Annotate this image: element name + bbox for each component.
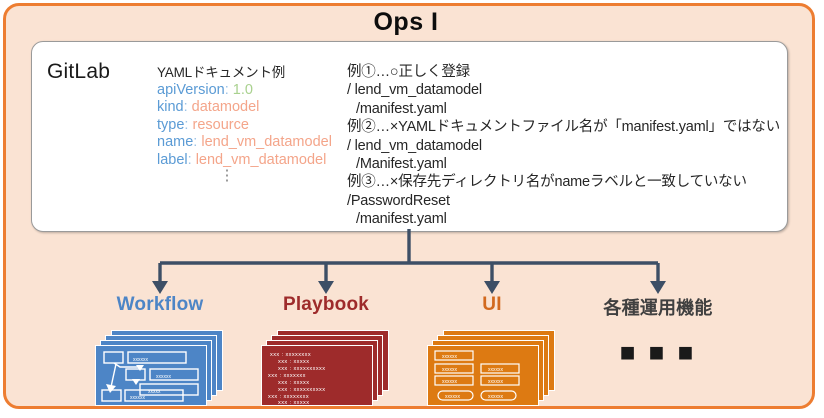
column-label-playbook: Playbook [241,294,411,320]
example-line-4: 例②…×YAMLドキュメントファイル名が「manifest.yaml」ではない [347,118,780,136]
yaml-colon: : [184,99,192,115]
example-line-6: /Manifest.yaml [347,155,780,173]
gitlab-card: GitLab YAMLドキュメント例 apiVersion: 1.0 kind:… [31,41,788,232]
yaml-line-apiversion: apiVersion: 1.0 [157,82,352,100]
column-ui: UI xxxxxx [407,294,577,402]
yaml-document-block: YAMLドキュメント例 apiVersion: 1.0 kind: datamo… [157,64,352,183]
page-title: Ops I [0,8,812,37]
yaml-key-kind: kind [157,99,184,115]
svg-text:xxx : xxxxx: xxx : xxxxx [278,400,309,406]
svg-text:xxxxx: xxxxx [148,389,161,395]
column-playbook: Playbook xxx : xxxxxxxx xxx : xxxxx xxx … [241,294,411,402]
example-line-1: 例①…○正しく登録 [347,63,780,81]
svg-text:xxx : xxxxx: xxx : xxxxx [278,359,309,365]
yaml-value-type: resource [192,117,248,133]
svg-text:xxxxxx: xxxxxx [442,354,458,360]
svg-text:xxx : xxxxxxxxxx: xxx : xxxxxxxxxx [278,366,325,372]
workflow-diagram-stack-icon: xxxxxx xxxxxx xxxxx xxxxxx [95,330,225,402]
svg-text:xxx : xxxxxxx: xxx : xxxxxxx [268,373,306,379]
playbook-text-stack-icon: xxx : xxxxxxxx xxx : xxxxx xxx : xxxxxxx… [261,330,391,402]
yaml-value-kind: datamodel [192,99,260,115]
example-line-2: / lend_vm_datamodel [347,81,780,99]
column-label-ui: UI [407,294,577,320]
yaml-key-apiversion: apiVersion [157,82,225,98]
example-line-3: /manifest.yaml [347,100,780,118]
svg-text:xxx : xxxxxxxxxx: xxx : xxxxxxxxxx [278,387,325,393]
example-line-7: 例③…×保存先ディレクトリ名がnameラベルと一致していない [347,173,780,191]
svg-text:xxxxxx: xxxxxx [488,394,504,400]
yaml-key-label: label [157,152,188,168]
column-workflow: Workflow [75,294,245,402]
yaml-key-type: type [157,117,184,133]
svg-text:xxxxxx: xxxxxx [133,357,149,363]
diagram-canvas: Ops I GitLab YAMLドキュメント例 apiVersion: 1.0… [0,0,824,418]
column-label-ops-functions: 各種運用機能 [573,294,743,320]
yaml-block-title: YAMLドキュメント例 [157,64,352,82]
svg-text:xxxxxx: xxxxxx [445,394,461,400]
svg-text:xxxxxx: xxxxxx [488,379,504,385]
svg-text:xxx : xxxxx: xxx : xxxxx [278,380,309,386]
yaml-colon: : [188,152,196,168]
svg-text:xxxxxx: xxxxxx [442,367,458,373]
example-line-5: / lend_vm_datamodel [347,137,780,155]
ui-form-stack-icon: xxxxxx xxxxxx xxxxxx xxxxxx xxxxxx xxxxx… [427,330,557,402]
yaml-line-type: type: resource [157,117,352,135]
svg-text:xxxxxx: xxxxxx [130,395,146,401]
ellipsis-icon: ■ ■ ■ [573,342,743,362]
yaml-value-apiversion: 1.0 [233,82,253,98]
yaml-continuation-ellipsis: ⋮ [157,169,297,183]
yaml-line-name: name: lend_vm_datamodel [157,134,352,152]
yaml-colon: : [225,82,233,98]
svg-text:xxxxxx: xxxxxx [442,379,458,385]
svg-text:xxx : xxxxxxxx: xxx : xxxxxxxx [270,352,311,358]
gitlab-label: GitLab [47,60,110,84]
svg-text:xxxxxx: xxxxxx [488,367,504,373]
svg-text:xxxxxx: xxxxxx [156,374,172,380]
example-line-9: /manifest.yaml [347,210,780,228]
examples-block: 例①…○正しく登録 / lend_vm_datamodel /manifest.… [347,63,780,229]
column-label-workflow: Workflow [75,294,245,320]
yaml-value-name: lend_vm_datamodel [201,134,332,150]
example-line-8: /PasswordReset [347,192,780,210]
yaml-line-label: label: lend_vm_datamodel [157,152,352,170]
column-ops-functions: 各種運用機能 ■ ■ ■ [573,294,743,362]
yaml-line-kind: kind: datamodel [157,99,352,117]
yaml-value-label: lend_vm_datamodel [196,152,327,168]
yaml-key-name: name [157,134,193,150]
